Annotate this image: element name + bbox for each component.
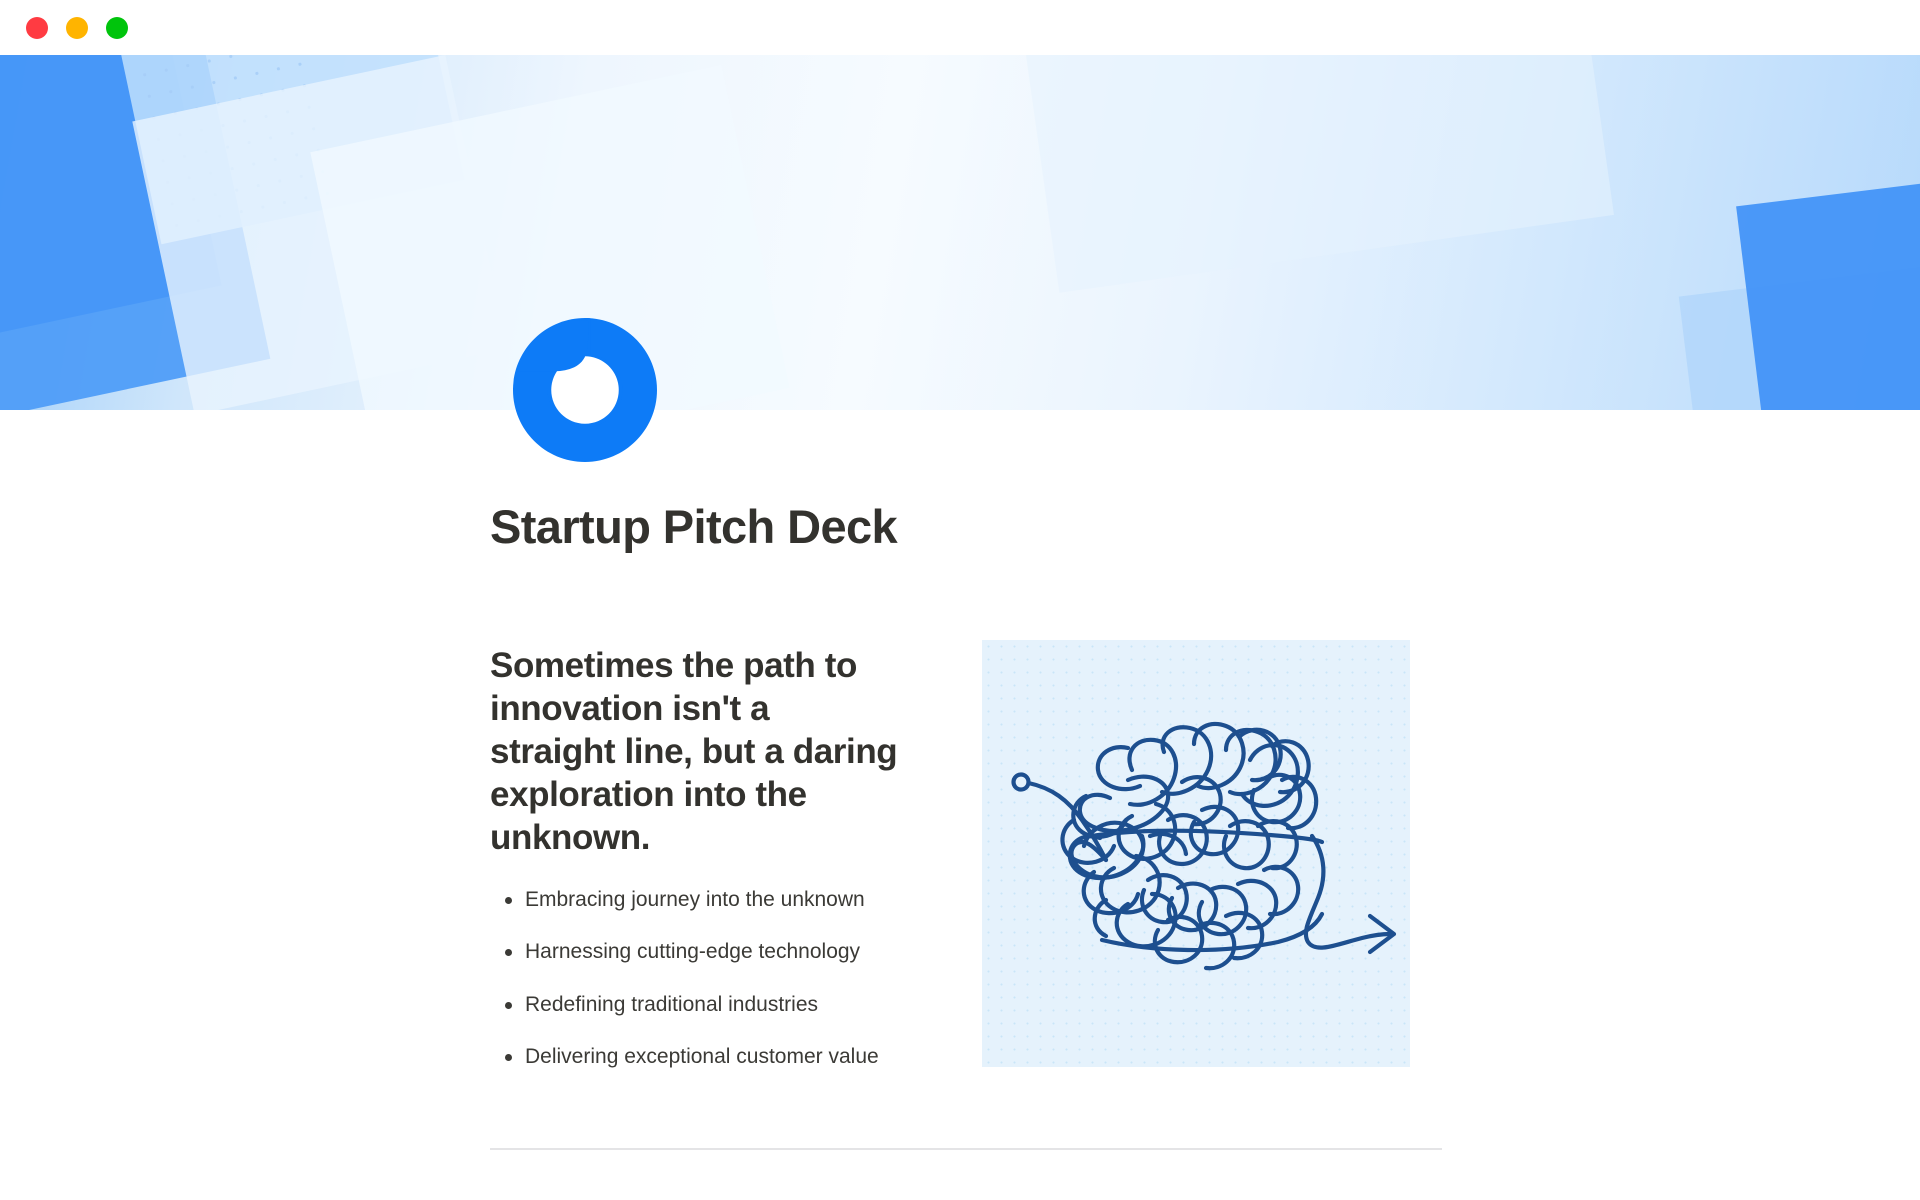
slide-bullet-list: Embracing journey into the unknown Harne… [490, 887, 900, 1070]
banner-shape-right-accent [1736, 166, 1920, 410]
list-item: Delivering exceptional customer value [490, 1044, 900, 1070]
app-window: Startup Pitch Deck Sometimes the path to… [0, 0, 1920, 1200]
circular-swoosh-logo-icon [510, 315, 660, 465]
slide-content: Sometimes the path to innovation isn't a… [490, 640, 1440, 1096]
slide-illustration-panel [982, 640, 1410, 1067]
section-divider [490, 1148, 1442, 1150]
hero-banner [0, 55, 1920, 410]
slide-headline: Sometimes the path to innovation isn't a… [490, 644, 900, 859]
list-item: Redefining traditional industries [490, 992, 900, 1018]
slide-text-column: Sometimes the path to innovation isn't a… [490, 640, 900, 1096]
list-item: Harnessing cutting-edge technology [490, 939, 900, 965]
close-button[interactable] [26, 17, 48, 39]
page-title: Startup Pitch Deck [490, 500, 897, 554]
list-item: Embracing journey into the unknown [490, 887, 900, 913]
zoom-button[interactable] [106, 17, 128, 39]
window-controls [26, 17, 128, 39]
minimize-button[interactable] [66, 17, 88, 39]
banner-shape-pale-wide [1026, 55, 1614, 293]
window-titlebar [0, 0, 1920, 55]
tangled-path-to-arrow-illustration-icon [982, 640, 1410, 1067]
